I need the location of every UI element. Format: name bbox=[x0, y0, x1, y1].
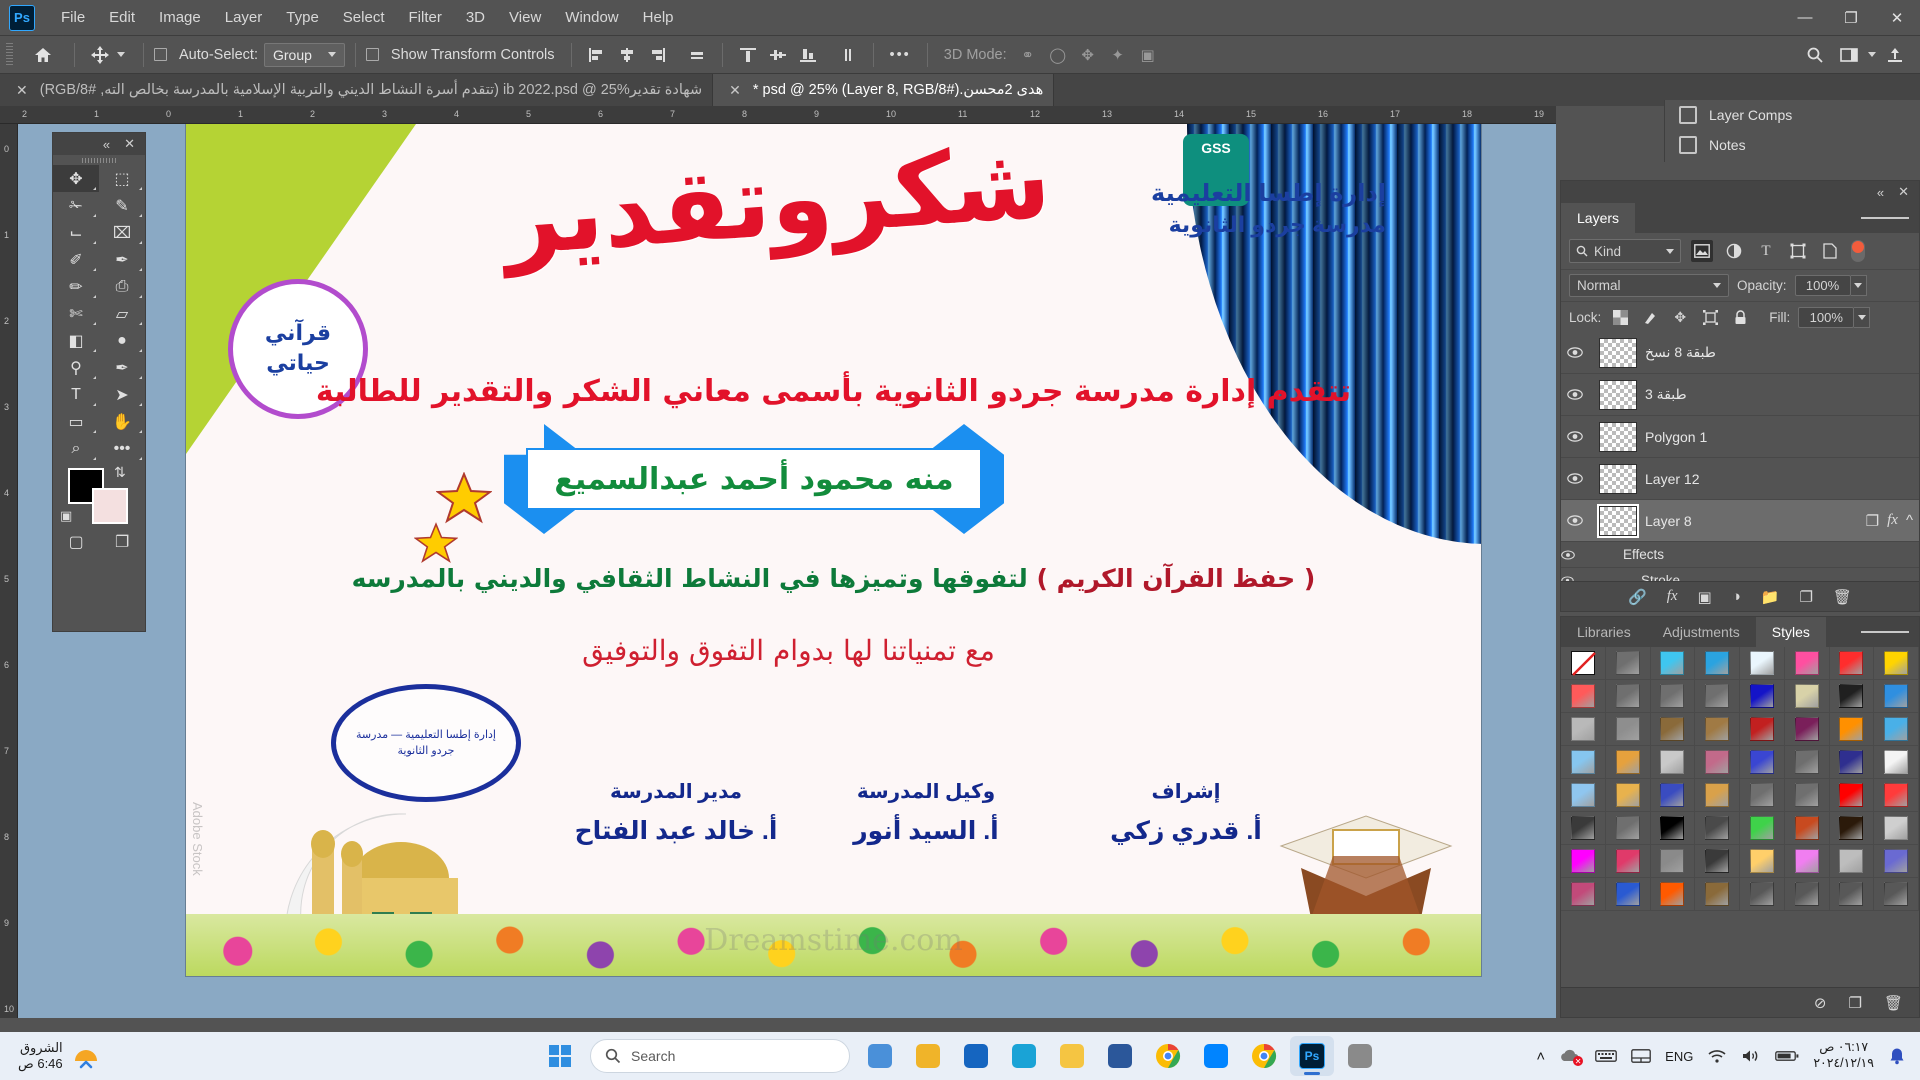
menu-window[interactable]: Window bbox=[553, 4, 630, 31]
shape-layer-filter-icon[interactable] bbox=[1787, 240, 1809, 262]
add-layer-style-icon[interactable]: fx bbox=[1667, 588, 1678, 605]
style-swatch-53[interactable] bbox=[1785, 845, 1830, 878]
move-tool-icon[interactable]: ✥ bbox=[53, 165, 99, 192]
fill-input[interactable]: 100% bbox=[1798, 307, 1854, 328]
ruler-tick: 8 bbox=[742, 109, 747, 119]
style-swatch-49[interactable] bbox=[1606, 845, 1651, 878]
menu-select[interactable]: Select bbox=[331, 4, 397, 31]
chrome-browser-2-icon[interactable] bbox=[1242, 1036, 1286, 1076]
taskbar-search-box[interactable]: Search bbox=[590, 1039, 850, 1073]
student-name-text: منه محمود أحمد عبدالسميع bbox=[554, 462, 953, 497]
style-swatch-14[interactable] bbox=[1830, 680, 1875, 713]
align-top-edges-icon[interactable] bbox=[733, 42, 763, 68]
search-icon[interactable] bbox=[1800, 42, 1830, 68]
style-swatch-60[interactable] bbox=[1740, 878, 1785, 911]
canvas-scroll-area[interactable]: قرآني حياتي شكروتقدير GSS إدارة إطسا الت… bbox=[18, 124, 1556, 1018]
style-swatch-46[interactable] bbox=[1830, 812, 1875, 845]
curtain-fold bbox=[1397, 124, 1411, 544]
layers-panel-header[interactable]: « ✕ bbox=[1561, 181, 1919, 203]
style-swatch-preview bbox=[1839, 783, 1863, 807]
lock-artboard-nesting-icon[interactable] bbox=[1699, 306, 1721, 328]
toolbox-header[interactable]: « ✕ bbox=[53, 133, 145, 155]
align-vertical-centers-icon[interactable] bbox=[763, 42, 793, 68]
signature-name: أ. السيد أنور bbox=[806, 816, 1046, 846]
style-swatch-41[interactable] bbox=[1606, 812, 1651, 845]
layer-visibility-toggle-icon[interactable] bbox=[1567, 515, 1591, 526]
menu-3d[interactable]: 3D bbox=[454, 4, 497, 31]
start-button[interactable] bbox=[538, 1036, 582, 1076]
adjustment-layer-filter-icon[interactable] bbox=[1723, 240, 1745, 262]
align-left-edges-icon[interactable] bbox=[582, 42, 612, 68]
background-color-swatch[interactable] bbox=[92, 488, 128, 524]
pinned-app-icon[interactable] bbox=[1338, 1036, 1382, 1076]
ruler-tick: 7 bbox=[4, 746, 9, 756]
lasso-tool-icon[interactable]: ✁ bbox=[53, 192, 99, 219]
sunrise-icon bbox=[71, 1041, 101, 1071]
style-swatch-3[interactable] bbox=[1695, 647, 1740, 680]
chrome-browser-icon[interactable] bbox=[1146, 1036, 1190, 1076]
layer-visibility-toggle-icon[interactable] bbox=[1567, 431, 1591, 442]
layer-thumbnail[interactable] bbox=[1599, 464, 1637, 494]
style-swatch-0[interactable] bbox=[1561, 647, 1606, 680]
style-swatch-22[interactable] bbox=[1830, 713, 1875, 746]
collapse-icon[interactable]: « bbox=[1877, 185, 1884, 200]
tray-chevron-up-icon[interactable]: ˄ bbox=[1536, 1048, 1545, 1065]
style-swatch-58[interactable] bbox=[1651, 878, 1696, 911]
delete-style-icon[interactable]: 🗑 bbox=[1884, 994, 1903, 1012]
divider bbox=[355, 43, 356, 67]
divider bbox=[927, 43, 928, 67]
messenger-icon[interactable] bbox=[1194, 1036, 1238, 1076]
style-swatch-16[interactable] bbox=[1561, 713, 1606, 746]
collapse-icon[interactable]: « bbox=[103, 137, 110, 152]
document-tab-bar: شهادة تقديرib 2022.psd @ 25% (تتقدم أسرة… bbox=[0, 74, 1920, 106]
wifi-icon[interactable] bbox=[1707, 1048, 1727, 1064]
panel-item-label: Layer Comps bbox=[1709, 107, 1792, 123]
photoshop-window: Ps FileEditImageLayerTypeSelectFilter3DV… bbox=[0, 0, 1920, 1080]
style-swatch-8[interactable] bbox=[1561, 680, 1606, 713]
eyedropper-tool-icon[interactable]: ✐ bbox=[53, 246, 99, 273]
drag-3d-icon[interactable]: ✥ bbox=[1073, 42, 1103, 68]
ruler-tick: 1 bbox=[4, 230, 9, 240]
close-icon[interactable]: ✕ bbox=[124, 136, 135, 152]
3d-mode-label: 3D Mode: bbox=[944, 47, 1007, 63]
distribute-horizontal-icon[interactable] bbox=[682, 42, 712, 68]
layer-thumbnail[interactable] bbox=[1599, 506, 1637, 536]
style-swatch-56[interactable] bbox=[1561, 878, 1606, 911]
style-swatch-28[interactable] bbox=[1740, 746, 1785, 779]
style-swatch-preview bbox=[1795, 816, 1819, 840]
rotate-3d-icon[interactable]: ⚭ bbox=[1013, 42, 1043, 68]
style-swatch-19[interactable] bbox=[1695, 713, 1740, 746]
style-swatch-7[interactable] bbox=[1874, 647, 1919, 680]
more-options-button[interactable]: ••• bbox=[890, 47, 911, 63]
star-decor-icon bbox=[436, 472, 492, 524]
eraser-tool-icon[interactable]: ▱ bbox=[99, 300, 145, 327]
layers-panel: « ✕ Layers Kind T Normal bbox=[1560, 180, 1920, 612]
share-icon[interactable] bbox=[1880, 42, 1910, 68]
ruler-tick: 10 bbox=[4, 1004, 14, 1014]
fill-label: Fill: bbox=[1769, 310, 1790, 325]
photoshop-logo-icon: Ps bbox=[9, 5, 35, 31]
ruler-tick: 5 bbox=[526, 109, 531, 119]
home-icon[interactable] bbox=[28, 42, 58, 68]
style-swatch-6[interactable] bbox=[1830, 647, 1875, 680]
style-swatch-13[interactable] bbox=[1785, 680, 1830, 713]
link-layers-icon[interactable]: 🔗 bbox=[1628, 588, 1647, 606]
style-swatch-11[interactable] bbox=[1695, 680, 1740, 713]
name-frame-inner: منه محمود أحمد عبدالسميع bbox=[526, 448, 982, 510]
style-swatch-48[interactable] bbox=[1561, 845, 1606, 878]
panel-item-notes[interactable]: Notes bbox=[1665, 130, 1920, 160]
gradient-tool-icon[interactable]: ◧ bbox=[53, 327, 99, 354]
ruler-tick: 14 bbox=[1174, 109, 1184, 119]
style-swatch-preview bbox=[1660, 849, 1684, 873]
style-swatch-preview bbox=[1660, 882, 1684, 906]
style-swatch-32[interactable] bbox=[1561, 779, 1606, 812]
slide-3d-icon[interactable]: ✦ bbox=[1103, 42, 1133, 68]
smart-object-filter-icon[interactable] bbox=[1819, 240, 1841, 262]
path-selection-tool-icon[interactable]: ➤ bbox=[99, 381, 145, 408]
mail-icon[interactable] bbox=[954, 1036, 998, 1076]
ruler-tick: 10 bbox=[886, 109, 896, 119]
auto-select-scope-select[interactable]: Group bbox=[264, 43, 345, 67]
ruler-tick: 17 bbox=[1390, 109, 1400, 119]
blend-mode-row: Normal Opacity: 100% bbox=[1561, 269, 1919, 301]
layer-effects-fx-icon[interactable]: fx bbox=[1887, 512, 1898, 529]
tab-styles[interactable]: Styles bbox=[1756, 617, 1826, 647]
panel-menu-icon[interactable] bbox=[1851, 203, 1919, 233]
document-tab-0[interactable]: شهادة تقديرib 2022.psd @ 25% (تتقدم أسرة… bbox=[0, 74, 713, 106]
menu-items: FileEditImageLayerTypeSelectFilter3DView… bbox=[49, 4, 686, 31]
menu-layer[interactable]: Layer bbox=[213, 4, 275, 31]
style-swatch-preview bbox=[1884, 684, 1908, 708]
style-swatch-62[interactable] bbox=[1830, 878, 1875, 911]
tab-layers[interactable]: Layers bbox=[1561, 203, 1635, 233]
lock-all-icon[interactable] bbox=[1729, 306, 1751, 328]
divider bbox=[143, 43, 144, 67]
style-swatch-preview bbox=[1616, 717, 1640, 741]
zoom-tool-icon[interactable]: ⌕ bbox=[53, 435, 99, 462]
style-swatch-38[interactable] bbox=[1830, 779, 1875, 812]
divider bbox=[722, 43, 723, 67]
effects-visibility-icon[interactable] bbox=[1561, 550, 1613, 560]
show-transform-controls-checkbox[interactable] bbox=[366, 48, 379, 61]
menu-type[interactable]: Type bbox=[274, 4, 331, 31]
style-swatch-39[interactable] bbox=[1874, 779, 1919, 812]
layer-row-4[interactable]: Layer 8❐fx^ bbox=[1561, 500, 1919, 542]
style-swatch-40[interactable] bbox=[1561, 812, 1606, 845]
tab-adjustments[interactable]: Adjustments bbox=[1647, 617, 1756, 647]
auto-select-checkbox[interactable] bbox=[154, 48, 167, 61]
style-swatch-45[interactable] bbox=[1785, 812, 1830, 845]
layer-visibility-toggle-icon[interactable] bbox=[1567, 473, 1591, 484]
curtain-fold bbox=[1411, 124, 1425, 544]
menu-help[interactable]: Help bbox=[631, 4, 686, 31]
word-icon[interactable] bbox=[1098, 1036, 1142, 1076]
style-swatch-24[interactable] bbox=[1561, 746, 1606, 779]
folder-icon[interactable] bbox=[1050, 1036, 1094, 1076]
style-swatch-2[interactable] bbox=[1651, 647, 1696, 680]
style-swatch-15[interactable] bbox=[1874, 680, 1919, 713]
lock-transparent-pixels-icon[interactable] bbox=[1609, 306, 1631, 328]
style-swatch-26[interactable] bbox=[1651, 746, 1696, 779]
layer-thumbnail[interactable] bbox=[1599, 338, 1637, 368]
volume-icon[interactable] bbox=[1741, 1048, 1761, 1064]
style-swatch-50[interactable] bbox=[1651, 845, 1696, 878]
scale-3d-icon[interactable]: ▣ bbox=[1133, 42, 1163, 68]
file-explorer-icon[interactable] bbox=[906, 1036, 950, 1076]
minimize-button[interactable]: — bbox=[1782, 0, 1828, 36]
style-swatch-51[interactable] bbox=[1695, 845, 1740, 878]
layer-visibility-toggle-icon[interactable] bbox=[1567, 347, 1591, 358]
close-button[interactable]: ✕ bbox=[1874, 0, 1920, 36]
document-tab-1[interactable]: هدى 2محسن.psd @ 25% (Layer 8, RGB/8#) *✕ bbox=[713, 74, 1054, 106]
style-swatch-61[interactable] bbox=[1785, 878, 1830, 911]
style-swatch-preview bbox=[1660, 651, 1684, 675]
default-colors-icon[interactable]: ▣ bbox=[60, 508, 72, 524]
style-swatch-20[interactable] bbox=[1740, 713, 1785, 746]
layer-row-3[interactable]: Layer 12 bbox=[1561, 458, 1919, 500]
widgets-icon[interactable] bbox=[858, 1036, 902, 1076]
layer-thumbnail[interactable] bbox=[1599, 422, 1637, 452]
fill-stepper[interactable] bbox=[1854, 307, 1870, 328]
style-swatch-36[interactable] bbox=[1740, 779, 1785, 812]
new-group-icon[interactable]: 📁 bbox=[1761, 588, 1780, 606]
panel-menu-icon[interactable] bbox=[1851, 617, 1919, 647]
style-swatch-33[interactable] bbox=[1606, 779, 1651, 812]
weather-title: الشروق bbox=[18, 1040, 63, 1056]
weather-time: 6:46 ص bbox=[18, 1056, 63, 1072]
menu-view[interactable]: View bbox=[497, 4, 553, 31]
style-swatch-27[interactable] bbox=[1695, 746, 1740, 779]
delete-layer-icon[interactable]: 🗑 bbox=[1833, 588, 1852, 606]
layer-row-1[interactable]: طبقة 3 bbox=[1561, 374, 1919, 416]
battery-icon[interactable] bbox=[1775, 1049, 1799, 1063]
style-swatch-preview bbox=[1705, 717, 1729, 741]
touchpad-icon[interactable] bbox=[1631, 1048, 1651, 1064]
style-swatch-9[interactable] bbox=[1606, 680, 1651, 713]
options-bar-right-tools bbox=[1800, 42, 1920, 68]
style-swatch-10[interactable] bbox=[1651, 680, 1696, 713]
clear-style-icon[interactable]: ⊘ bbox=[1814, 994, 1827, 1012]
lock-position-icon[interactable]: ✥ bbox=[1669, 306, 1691, 328]
stock-watermark-text: Adobe Stock bbox=[190, 802, 205, 876]
style-swatch-25[interactable] bbox=[1606, 746, 1651, 779]
style-swatch-44[interactable] bbox=[1740, 812, 1785, 845]
window-controls: — ❐ ✕ bbox=[1782, 0, 1920, 36]
crop-tool-icon[interactable]: ⌙ bbox=[53, 219, 99, 246]
style-swatch-31[interactable] bbox=[1874, 746, 1919, 779]
layer-row-2[interactable]: Polygon 1 bbox=[1561, 416, 1919, 458]
style-swatch-29[interactable] bbox=[1785, 746, 1830, 779]
layer-effects-row[interactable]: Effects bbox=[1561, 542, 1919, 568]
pixel-layer-filter-icon[interactable] bbox=[1691, 240, 1713, 262]
ruler-tick: 6 bbox=[598, 109, 603, 119]
align-right-edges-icon[interactable] bbox=[642, 42, 672, 68]
clone-stamp-tool-icon[interactable]: ⎙ bbox=[99, 273, 145, 300]
style-swatch-preview bbox=[1795, 717, 1819, 741]
style-swatch-57[interactable] bbox=[1606, 878, 1651, 911]
smart-filter-icon[interactable]: ❐ bbox=[1866, 512, 1879, 530]
style-swatch-21[interactable] bbox=[1785, 713, 1830, 746]
style-swatch-23[interactable] bbox=[1874, 713, 1919, 746]
rectangle-tool-icon[interactable]: ▭ bbox=[53, 408, 99, 435]
quick-mask-icon[interactable]: ▢ bbox=[69, 532, 84, 552]
style-swatch-preview bbox=[1571, 816, 1595, 840]
menu-edit[interactable]: Edit bbox=[97, 4, 147, 31]
style-swatch-5[interactable] bbox=[1785, 647, 1830, 680]
style-swatch-preview bbox=[1616, 882, 1640, 906]
keyboard-icon[interactable] bbox=[1595, 1048, 1617, 1064]
healing-brush-tool-icon[interactable]: ✒ bbox=[99, 246, 145, 273]
layer-row-0[interactable]: طبقة 8 نسخ bbox=[1561, 332, 1919, 374]
style-swatch-47[interactable] bbox=[1874, 812, 1919, 845]
edit-toolbar-icon[interactable]: ••• bbox=[99, 435, 145, 462]
hand-tool-icon[interactable]: ✋ bbox=[99, 408, 145, 435]
notification-bell-icon[interactable] bbox=[1888, 1047, 1906, 1065]
watermark-text: Dreamstime.com bbox=[704, 923, 963, 958]
style-swatch-54[interactable] bbox=[1830, 845, 1875, 878]
horizontal-ruler[interactable]: 21012345678910111213141516171819 bbox=[0, 106, 1556, 124]
style-swatch-preview bbox=[1660, 717, 1684, 741]
style-swatch-52[interactable] bbox=[1740, 845, 1785, 878]
style-swatch-35[interactable] bbox=[1695, 779, 1740, 812]
history-brush-tool-icon[interactable]: ✄ bbox=[53, 300, 99, 327]
style-swatch-4[interactable] bbox=[1740, 647, 1785, 680]
dodge-tool-icon[interactable]: ⚲ bbox=[53, 354, 99, 381]
roll-3d-icon[interactable]: ◯ bbox=[1043, 42, 1073, 68]
signature-role: مدير المدرسة bbox=[546, 779, 806, 804]
screen-mode-icon[interactable]: ❐ bbox=[115, 532, 129, 552]
layer-filter-kind-select[interactable]: Kind bbox=[1569, 239, 1681, 263]
ruler-tick: 5 bbox=[4, 574, 9, 584]
blur-tool-icon[interactable]: ● bbox=[99, 327, 145, 354]
horizontal-type-tool-icon[interactable]: T bbox=[53, 381, 99, 408]
style-swatch-37[interactable] bbox=[1785, 779, 1830, 812]
weather-widget[interactable]: الشروق 6:46 ص bbox=[0, 1040, 101, 1072]
layer-name: Polygon 1 bbox=[1645, 429, 1707, 445]
layer-visibility-toggle-icon[interactable] bbox=[1567, 389, 1591, 400]
menu-filter[interactable]: Filter bbox=[397, 4, 454, 31]
ruler-tick: 4 bbox=[454, 109, 459, 119]
style-swatch-18[interactable] bbox=[1651, 713, 1696, 746]
opacity-input[interactable]: 100% bbox=[1795, 275, 1851, 296]
swap-colors-icon[interactable]: ⇅ bbox=[114, 464, 126, 481]
divider bbox=[74, 43, 75, 67]
style-swatch-59[interactable] bbox=[1695, 878, 1740, 911]
close-icon[interactable]: ✕ bbox=[1898, 184, 1909, 200]
distribute-vertical-icon[interactable] bbox=[833, 42, 863, 68]
blend-mode-value: Normal bbox=[1577, 278, 1621, 293]
style-swatch-42[interactable] bbox=[1651, 812, 1696, 845]
filter-power-toggle-icon[interactable] bbox=[1851, 240, 1865, 262]
official-stamp: إدارة إطسا التعليمية — مدرسة جردو الثانو… bbox=[331, 684, 521, 802]
new-layer-icon[interactable]: ❐ bbox=[1799, 588, 1812, 606]
onedrive-error-icon[interactable]: ✕ bbox=[1559, 1048, 1581, 1064]
taskbar-center: Search Ps bbox=[538, 1036, 1382, 1076]
new-style-icon[interactable]: ❐ bbox=[1849, 994, 1862, 1012]
pen-tool-icon[interactable]: ✒ bbox=[99, 354, 145, 381]
add-layer-mask-icon[interactable]: ▣ bbox=[1698, 588, 1712, 606]
signature-role: إشراف bbox=[1066, 779, 1306, 804]
edge-browser-icon[interactable] bbox=[1002, 1036, 1046, 1076]
artboard[interactable]: قرآني حياتي شكروتقدير GSS إدارة إطسا الت… bbox=[186, 124, 1481, 976]
panel-item-layer-comps[interactable]: Layer Comps bbox=[1665, 100, 1920, 130]
align-bottom-edges-icon[interactable] bbox=[793, 42, 823, 68]
student-name-frame: منه محمود أحمد عبدالسميع bbox=[504, 424, 1004, 534]
blend-mode-select[interactable]: Normal bbox=[1569, 274, 1729, 297]
style-swatch-preview bbox=[1839, 816, 1863, 840]
tab-libraries[interactable]: Libraries bbox=[1561, 617, 1647, 647]
lock-row: Lock: ✥ Fill: 100% bbox=[1561, 301, 1919, 332]
ruler-tick: 0 bbox=[166, 109, 171, 119]
maximize-button[interactable]: ❐ bbox=[1828, 0, 1874, 36]
new-adjustment-layer-icon[interactable]: ◑ bbox=[1732, 588, 1741, 605]
opacity-label: Opacity: bbox=[1737, 278, 1787, 293]
rectangular-marquee-tool-icon[interactable]: ⬚ bbox=[99, 165, 145, 192]
toolbox-grip[interactable] bbox=[53, 155, 145, 165]
style-swatch-preview bbox=[1750, 783, 1774, 807]
style-swatch-preview bbox=[1705, 882, 1729, 906]
style-swatch-12[interactable] bbox=[1740, 680, 1785, 713]
close-icon[interactable]: ✕ bbox=[14, 82, 30, 99]
ruler-tick: 3 bbox=[4, 402, 9, 412]
style-swatch-preview bbox=[1884, 750, 1908, 774]
type-layer-filter-icon[interactable]: T bbox=[1755, 240, 1777, 262]
style-swatch-preview bbox=[1571, 849, 1595, 873]
frame-tool-icon[interactable]: ⌧ bbox=[99, 219, 145, 246]
chevron-up-icon[interactable]: ^ bbox=[1906, 512, 1913, 529]
color-controls: ⇅ ▣ bbox=[53, 462, 145, 532]
logo-line-2: مدرسة جردو الثانوية bbox=[1151, 212, 1386, 238]
auto-select-label: Auto-Select: bbox=[179, 47, 258, 63]
layer-comps-notes-panel: Layer Comps Notes bbox=[1664, 100, 1920, 162]
style-swatch-34[interactable] bbox=[1651, 779, 1696, 812]
language-indicator[interactable]: ENG bbox=[1665, 1049, 1693, 1064]
move-tool-icon[interactable] bbox=[85, 42, 115, 68]
canvas-region: 21012345678910111213141516171819 0123456… bbox=[0, 106, 1556, 1018]
taskbar-clock[interactable]: ٠٦:١٧ ص ٢٠٢٤/١٢/١٩ bbox=[1813, 1040, 1874, 1071]
workspace-icon[interactable] bbox=[1834, 42, 1864, 68]
style-swatch-17[interactable] bbox=[1606, 713, 1651, 746]
chevron-down-icon[interactable] bbox=[1868, 52, 1876, 57]
style-swatch-43[interactable] bbox=[1695, 812, 1740, 845]
close-icon[interactable]: ✕ bbox=[727, 82, 743, 99]
style-swatch-63[interactable] bbox=[1874, 878, 1919, 911]
tool-preset-chevron-down-icon[interactable] bbox=[117, 52, 125, 57]
brush-tool-icon[interactable]: ✏ bbox=[53, 273, 99, 300]
lock-image-pixels-icon[interactable] bbox=[1639, 306, 1661, 328]
vertical-ruler[interactable]: 012345678910 bbox=[0, 124, 18, 1018]
search-icon bbox=[605, 1048, 621, 1064]
quick-selection-tool-icon[interactable]: ✎ bbox=[99, 192, 145, 219]
style-swatch-30[interactable] bbox=[1830, 746, 1875, 779]
photoshop-icon[interactable]: Ps bbox=[1290, 1036, 1334, 1076]
layer-thumbnail[interactable] bbox=[1599, 380, 1637, 410]
opacity-stepper[interactable] bbox=[1851, 275, 1867, 296]
options-bar-grip[interactable] bbox=[6, 43, 18, 67]
style-swatch-55[interactable] bbox=[1874, 845, 1919, 878]
align-horizontal-centers-icon[interactable] bbox=[612, 42, 642, 68]
curtain-fold bbox=[1453, 124, 1467, 544]
menu-file[interactable]: File bbox=[49, 4, 97, 31]
style-swatch-1[interactable] bbox=[1606, 647, 1651, 680]
style-swatch-preview bbox=[1884, 651, 1908, 675]
menu-image[interactable]: Image bbox=[147, 4, 213, 31]
artwork-green-line: ( حفظ القرآن الكريم ) لتفوقها وتميزها في… bbox=[216, 564, 1451, 593]
auto-select-scope-value: Group bbox=[273, 47, 312, 63]
